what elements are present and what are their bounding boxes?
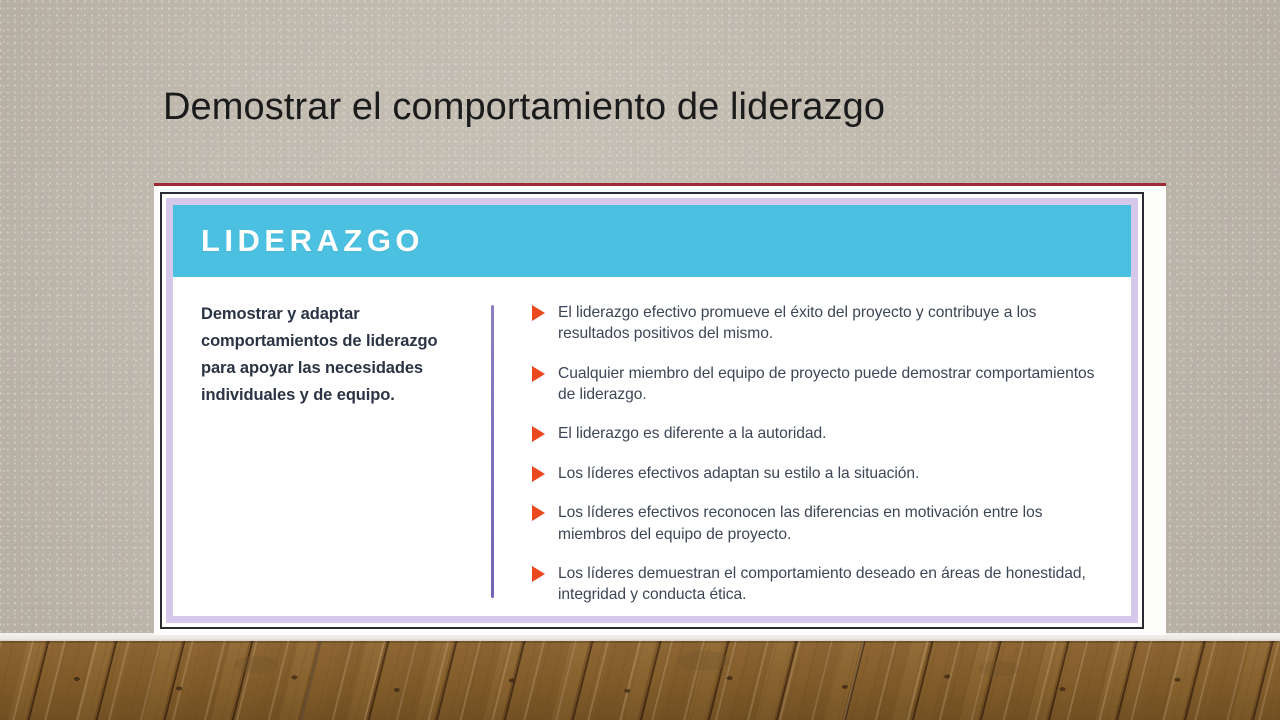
intro-column: Demostrar y adaptar comportamientos de l… [173,301,491,616]
intro-paragraph: Demostrar y adaptar comportamientos de l… [201,301,473,409]
list-item: El liderazgo efectivo promueve el éxito … [532,302,1101,345]
triangle-bullet-icon [532,505,545,521]
image-dark-border: LIDERAZGO Demostrar y adaptar comportami… [160,192,1144,629]
triangle-bullet-icon [532,426,545,442]
banner-header: LIDERAZGO [173,205,1131,277]
liderazgo-infographic-image: LIDERAZGO Demostrar y adaptar comportami… [154,183,1166,635]
presentation-slide: Demostrar el comportamiento de liderazgo… [0,0,1280,720]
triangle-bullet-icon [532,366,545,382]
list-item-text: El liderazgo efectivo promueve el éxito … [558,302,1101,345]
infographic-body: Demostrar y adaptar comportamientos de l… [173,277,1131,616]
triangle-bullet-icon [532,566,545,582]
list-item-text: Los líderes efectivos reconocen las dife… [558,502,1101,545]
list-item: El liderazgo es diferente a la autoridad… [532,423,1101,444]
wooden-floor-background [0,641,1280,720]
list-item-text: Los líderes efectivos adaptan su estilo … [558,463,919,484]
list-item-text: El liderazgo es diferente a la autoridad… [558,423,826,444]
bullets-column: El liderazgo efectivo promueve el éxito … [494,301,1131,616]
list-item: Los líderes efectivos reconocen las dife… [532,502,1101,545]
triangle-bullet-icon [532,305,545,321]
bullet-list: El liderazgo efectivo promueve el éxito … [532,302,1101,606]
list-item: Los líderes demuestran el comportamiento… [532,563,1101,606]
list-item-text: Los líderes demuestran el comportamiento… [558,563,1101,606]
banner-title: LIDERAZGO [201,223,424,259]
list-item: Los líderes efectivos adaptan su estilo … [532,463,1101,484]
list-item-text: Cualquier miembro del equipo de proyecto… [558,363,1101,406]
image-lavender-border: LIDERAZGO Demostrar y adaptar comportami… [166,198,1138,623]
page-title: Demostrar el comportamiento de liderazgo [163,86,1163,129]
list-item: Cualquier miembro del equipo de proyecto… [532,363,1101,406]
image-outer-frame: LIDERAZGO Demostrar y adaptar comportami… [154,186,1166,635]
triangle-bullet-icon [532,466,545,482]
